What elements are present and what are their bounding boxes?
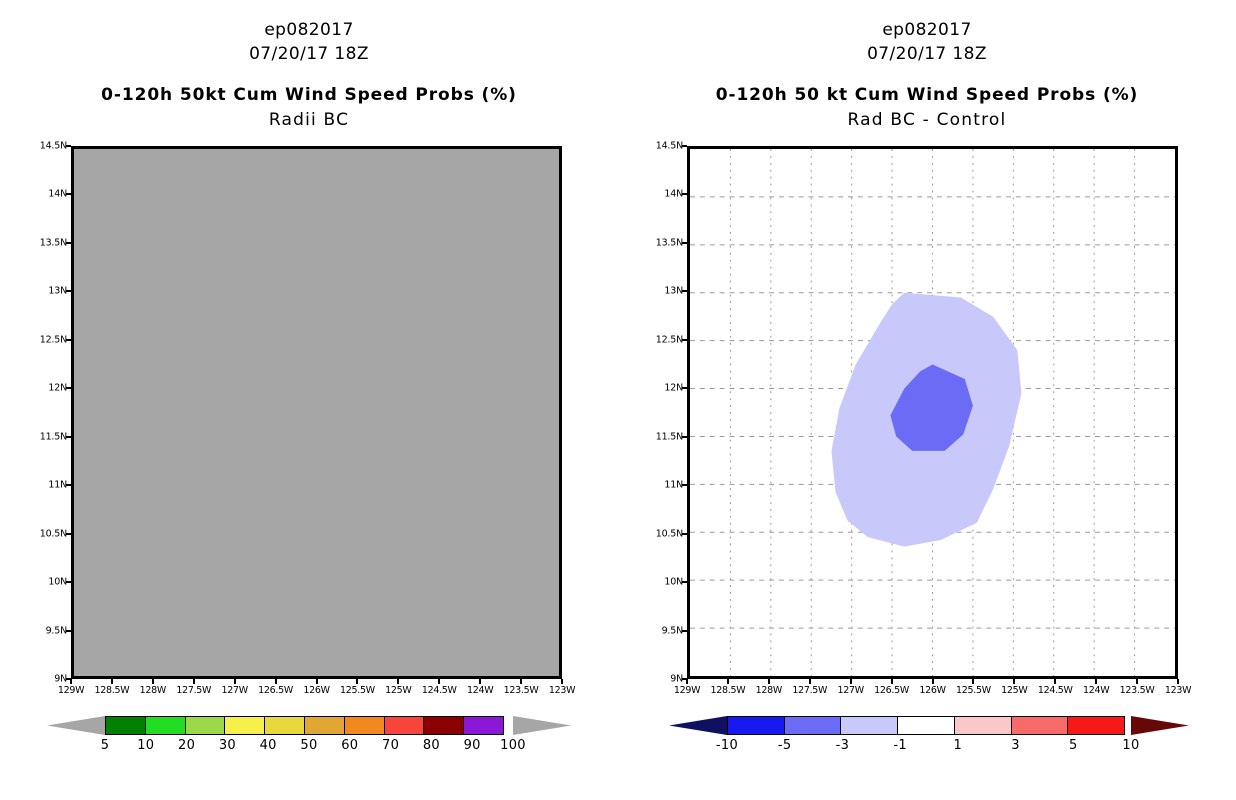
x-tick-mark	[70, 679, 72, 684]
colorbar-tick-label: 30	[219, 738, 236, 753]
x-tick-mark	[1095, 679, 1097, 684]
x-tick-mark	[1054, 679, 1056, 684]
colorbar-right-arrow	[1131, 716, 1189, 735]
x-tick-label: 127.5W	[792, 685, 827, 696]
x-tick-mark	[850, 679, 852, 684]
x-tick-label: 125W	[1001, 685, 1027, 696]
x-tick-mark	[397, 679, 399, 684]
colorbar-blocks	[105, 716, 513, 735]
x-tick-label: 127W	[221, 685, 247, 696]
x-tick-mark	[316, 679, 318, 684]
colorbar-block	[264, 716, 305, 735]
x-tick-label: 128W	[756, 685, 782, 696]
x-tick-label: 124W	[1083, 685, 1109, 696]
x-tick-label: 128W	[140, 685, 166, 696]
x-tick-mark	[520, 679, 522, 684]
x-tick-label: 124.5W	[1038, 685, 1073, 696]
colorbar-tick-label: -10	[716, 738, 738, 753]
colorbar-block	[423, 716, 464, 735]
colorbar-block	[384, 716, 425, 735]
colorbar-block	[727, 716, 785, 735]
colorbar-tick-label: 90	[464, 738, 481, 753]
colorbar-tick-label: 5	[101, 738, 110, 753]
x-tick-mark	[1013, 679, 1015, 684]
x-tick-label: 123.5W	[1120, 685, 1155, 696]
x-tick-label: 129W	[58, 685, 84, 696]
colorbar-tick-label: -3	[836, 738, 850, 753]
x-axis-left: 129W128.5W128W127.5W127W126.5W126W125.5W…	[0, 0, 618, 800]
colorbar-block	[344, 716, 385, 735]
colorbar-block	[304, 716, 345, 735]
colorbar-tick-label: 100	[500, 738, 526, 753]
x-tick-mark	[275, 679, 277, 684]
colorbar-block	[1067, 716, 1125, 735]
colorbar-block	[840, 716, 898, 735]
x-tick-label: 124.5W	[422, 685, 457, 696]
x-tick-label: 123.5W	[504, 685, 539, 696]
x-axis-right: 129W128.5W128W127.5W127W126.5W126W125.5W…	[618, 0, 1236, 800]
x-tick-mark	[1136, 679, 1138, 684]
colorbar-tick-label: 50	[300, 738, 317, 753]
colorbar-block	[145, 716, 186, 735]
colorbar-tick-label: 3	[1011, 738, 1020, 753]
x-tick-mark	[932, 679, 934, 684]
panel-rad-bc-control: ep082017 07/20/17 18Z 0-120h 50 kt Cum W…	[618, 0, 1236, 800]
x-tick-mark	[438, 679, 440, 684]
colorbar-tick-label: -5	[778, 738, 792, 753]
colorbar-left-arrow	[47, 716, 105, 735]
colorbar-block	[224, 716, 265, 735]
colorbar-blocks	[727, 716, 1131, 735]
x-tick-label: 123W	[1165, 685, 1191, 696]
x-tick-mark	[152, 679, 154, 684]
colorbar-block	[105, 716, 146, 735]
colorbar-tick-label: 20	[178, 738, 195, 753]
x-tick-label: 125.5W	[956, 685, 991, 696]
colorbar-block	[1011, 716, 1069, 735]
x-tick-label: 124W	[467, 685, 493, 696]
colorbar-block	[897, 716, 955, 735]
colorbar-left-arrow	[669, 716, 727, 735]
x-tick-mark	[193, 679, 195, 684]
probability-colorbar: 5102030405060708090100	[47, 716, 571, 776]
x-tick-mark	[686, 679, 688, 684]
weather-probability-figure: ep082017 07/20/17 18Z 0-120h 50kt Cum Wi…	[0, 0, 1236, 800]
x-tick-label: 123W	[549, 685, 575, 696]
colorbar-tick-label: 40	[260, 738, 277, 753]
x-tick-label: 125.5W	[340, 685, 375, 696]
x-tick-mark	[356, 679, 358, 684]
colorbar-block	[784, 716, 842, 735]
x-tick-label: 127.5W	[176, 685, 211, 696]
x-tick-label: 125W	[385, 685, 411, 696]
x-tick-mark	[561, 679, 563, 684]
colorbar-tick-label: 5	[1069, 738, 1078, 753]
x-tick-label: 128.5W	[95, 685, 130, 696]
x-tick-mark	[972, 679, 974, 684]
x-tick-mark	[891, 679, 893, 684]
colorbar-tick-label: 1	[954, 738, 963, 753]
x-tick-mark	[809, 679, 811, 684]
x-tick-label: 126.5W	[258, 685, 293, 696]
colorbar-tick-label: 60	[341, 738, 358, 753]
x-tick-label: 126.5W	[874, 685, 909, 696]
x-tick-mark	[111, 679, 113, 684]
colorbar-tick-label: -1	[893, 738, 907, 753]
x-tick-mark	[1177, 679, 1179, 684]
colorbar-right-arrow	[513, 716, 571, 735]
x-tick-label: 127W	[837, 685, 863, 696]
colorbar-block	[185, 716, 226, 735]
colorbar-block	[954, 716, 1012, 735]
x-tick-label: 126W	[303, 685, 329, 696]
x-tick-mark	[727, 679, 729, 684]
x-tick-label: 129W	[674, 685, 700, 696]
x-tick-mark	[479, 679, 481, 684]
x-tick-mark	[234, 679, 236, 684]
colorbar-tick-label: 80	[423, 738, 440, 753]
difference-colorbar: -10-5-3-113510	[669, 716, 1189, 776]
panel-radii-bc: ep082017 07/20/17 18Z 0-120h 50kt Cum Wi…	[0, 0, 618, 800]
x-tick-label: 128.5W	[711, 685, 746, 696]
colorbar-tick-label: 10	[1122, 738, 1139, 753]
colorbar-tick-label: 10	[137, 738, 154, 753]
x-tick-mark	[768, 679, 770, 684]
x-tick-label: 126W	[919, 685, 945, 696]
colorbar-tick-label: 70	[382, 738, 399, 753]
colorbar-block	[463, 716, 504, 735]
